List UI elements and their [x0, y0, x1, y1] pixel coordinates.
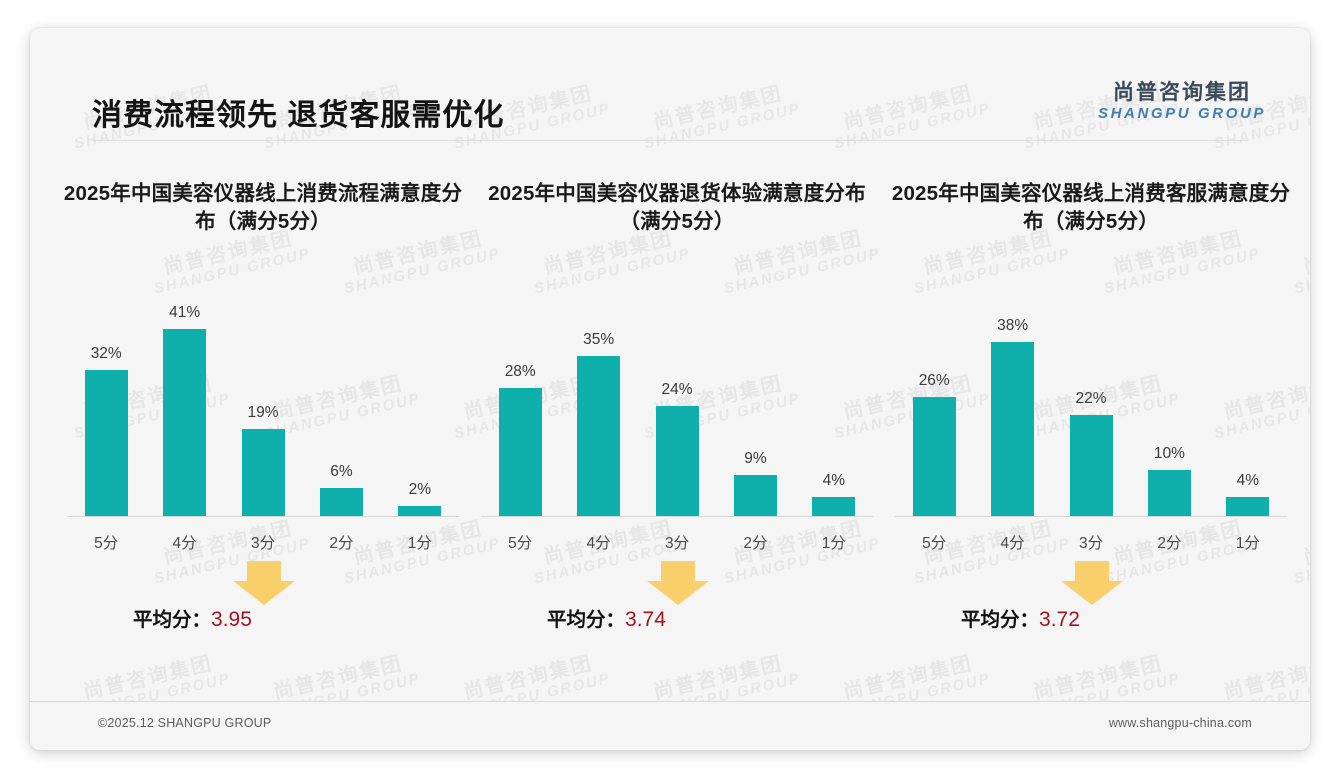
- bar-value-label: 32%: [91, 345, 122, 363]
- bottom-bar: ©2025.12 SHANGPU GROUP www.shangpu-china…: [30, 701, 1310, 750]
- x-axis-tick-label: 1分: [795, 517, 873, 553]
- x-axis-labels: 5分4分3分2分1分: [67, 517, 459, 553]
- x-axis-tick-label: 3分: [224, 517, 302, 553]
- bar-group: 32%41%19%6%2%: [67, 285, 459, 516]
- average-score-value: 3.72: [1039, 608, 1080, 631]
- average-score-text: 平均分：3.72: [961, 603, 1080, 632]
- bar-rect[interactable]: [577, 356, 620, 515]
- bar-item[interactable]: 35%: [559, 285, 637, 516]
- bar-value-label: 19%: [248, 404, 279, 422]
- bar-value-label: 4%: [823, 472, 845, 490]
- bar-rect[interactable]: [398, 506, 441, 515]
- logo-chinese-text: 尚普咨询集团: [1098, 81, 1266, 105]
- bar-item[interactable]: 26%: [895, 285, 973, 516]
- x-axis-labels: 5分4分3分2分1分: [481, 517, 873, 553]
- chart-title: 2025年中国美容仪器线上消费流程满意度分布（满分5分）: [56, 180, 470, 237]
- bar-value-label: 2%: [409, 481, 431, 499]
- bar-rect[interactable]: [163, 329, 206, 516]
- x-axis-tick-label: 4分: [559, 517, 637, 553]
- average-annotation: 平均分：3.74: [481, 561, 873, 633]
- bar-group: 28%35%24%9%4%: [481, 285, 873, 516]
- x-axis-tick-label: 2分: [1130, 517, 1208, 553]
- bar-item[interactable]: 4%: [1209, 285, 1287, 516]
- bar-item[interactable]: 2%: [381, 285, 459, 516]
- bar-item[interactable]: 28%: [481, 285, 559, 516]
- bar-item[interactable]: 19%: [224, 285, 302, 516]
- brand-logo: 尚普咨询集团 SHANGPU GROUP: [1098, 81, 1266, 122]
- bar-rect[interactable]: [320, 488, 363, 515]
- chart-plot-area: 32%41%19%6%2%5分4分3分2分1分: [67, 285, 459, 517]
- x-axis-tick-label: 2分: [716, 517, 794, 553]
- slide-header: 消费流程领先 退货客服需优化 尚普咨询集团 SHANGPU GROUP: [30, 28, 1310, 120]
- average-annotation: 平均分：3.72: [895, 561, 1287, 633]
- x-axis-tick-label: 4分: [145, 517, 223, 553]
- bar-item[interactable]: 9%: [716, 285, 794, 516]
- bar-group: 26%38%22%10%4%: [895, 285, 1287, 516]
- x-axis-tick-label: 4分: [973, 517, 1051, 553]
- bar-item[interactable]: 24%: [638, 285, 716, 516]
- bar-value-label: 35%: [583, 331, 614, 349]
- bar-item[interactable]: 22%: [1052, 285, 1130, 516]
- bar-value-label: 28%: [505, 363, 536, 381]
- x-axis-tick-label: 2分: [302, 517, 380, 553]
- average-score-text: 平均分：3.95: [133, 603, 252, 632]
- bar-rect[interactable]: [991, 342, 1034, 515]
- bar-item[interactable]: 38%: [973, 285, 1051, 516]
- chart-plot-area: 26%38%22%10%4%5分4分3分2分1分: [895, 285, 1287, 517]
- chart-plot-area: 28%35%24%9%4%5分4分3分2分1分: [481, 285, 873, 517]
- x-axis-tick-label: 5分: [895, 517, 973, 553]
- bar-value-label: 24%: [662, 381, 693, 399]
- x-axis-tick-label: 3分: [638, 517, 716, 553]
- charts-row: 2025年中国美容仪器线上消费流程满意度分布（满分5分）32%41%19%6%2…: [56, 168, 1284, 688]
- x-axis-tick-label: 1分: [381, 517, 459, 553]
- down-arrow-icon: [647, 561, 709, 605]
- bar-value-label: 26%: [919, 372, 950, 390]
- slide-card: 尚普咨询集团SHANGPU GROUP尚普咨询集团SHANGPU GROUP尚普…: [30, 28, 1310, 750]
- chart-title: 2025年中国美容仪器线上消费客服满意度分布（满分5分）: [884, 180, 1298, 237]
- chart-panel-3: 2025年中国美容仪器线上消费客服满意度分布（满分5分）26%38%22%10%…: [884, 168, 1298, 688]
- average-annotation: 平均分：3.95: [67, 561, 459, 633]
- bar-value-label: 6%: [330, 463, 352, 481]
- bar-item[interactable]: 4%: [795, 285, 873, 516]
- bar-rect[interactable]: [85, 370, 128, 516]
- x-axis-tick-label: 5分: [67, 517, 145, 553]
- chart-title: 2025年中国美容仪器退货体验满意度分布（满分5分）: [470, 180, 884, 237]
- average-score-value: 3.95: [211, 608, 252, 631]
- bar-rect[interactable]: [656, 406, 699, 515]
- x-axis-labels: 5分4分3分2分1分: [895, 517, 1287, 553]
- header-divider: [92, 140, 1248, 141]
- bar-rect[interactable]: [1148, 470, 1191, 516]
- average-score-label: 平均分：: [547, 609, 625, 631]
- bar-item[interactable]: 6%: [302, 285, 380, 516]
- bar-rect[interactable]: [242, 429, 285, 516]
- bar-item[interactable]: 10%: [1130, 285, 1208, 516]
- bar-item[interactable]: 32%: [67, 285, 145, 516]
- bar-rect[interactable]: [1226, 497, 1269, 515]
- bar-value-label: 10%: [1154, 445, 1185, 463]
- website-link[interactable]: www.shangpu-china.com: [1109, 716, 1252, 730]
- bar-rect[interactable]: [734, 475, 777, 516]
- average-score-value: 3.74: [625, 608, 666, 631]
- average-score-label: 平均分：: [961, 609, 1039, 631]
- bar-rect[interactable]: [1070, 415, 1113, 515]
- logo-english-text: SHANGPU GROUP: [1098, 105, 1266, 122]
- chart-panel-1: 2025年中国美容仪器线上消费流程满意度分布（满分5分）32%41%19%6%2…: [56, 168, 470, 688]
- bar-item[interactable]: 41%: [145, 285, 223, 516]
- bar-value-label: 4%: [1237, 472, 1259, 490]
- bar-rect[interactable]: [913, 397, 956, 515]
- down-arrow-icon: [233, 561, 295, 605]
- bar-rect[interactable]: [499, 388, 542, 516]
- x-axis-tick-label: 5分: [481, 517, 559, 553]
- copyright-text: ©2025.12 SHANGPU GROUP: [98, 716, 271, 730]
- x-axis-tick-label: 3分: [1052, 517, 1130, 553]
- average-score-text: 平均分：3.74: [547, 603, 666, 632]
- bar-value-label: 22%: [1076, 390, 1107, 408]
- x-axis-tick-label: 1分: [1209, 517, 1287, 553]
- down-arrow-icon: [1061, 561, 1123, 605]
- average-score-label: 平均分：: [133, 609, 211, 631]
- bar-value-label: 9%: [744, 450, 766, 468]
- bar-value-label: 41%: [169, 304, 200, 322]
- bar-value-label: 38%: [997, 317, 1028, 335]
- chart-panel-2: 2025年中国美容仪器退货体验满意度分布（满分5分）28%35%24%9%4%5…: [470, 168, 884, 688]
- bar-rect[interactable]: [812, 497, 855, 515]
- page-title: 消费流程领先 退货客服需优化: [92, 90, 504, 134]
